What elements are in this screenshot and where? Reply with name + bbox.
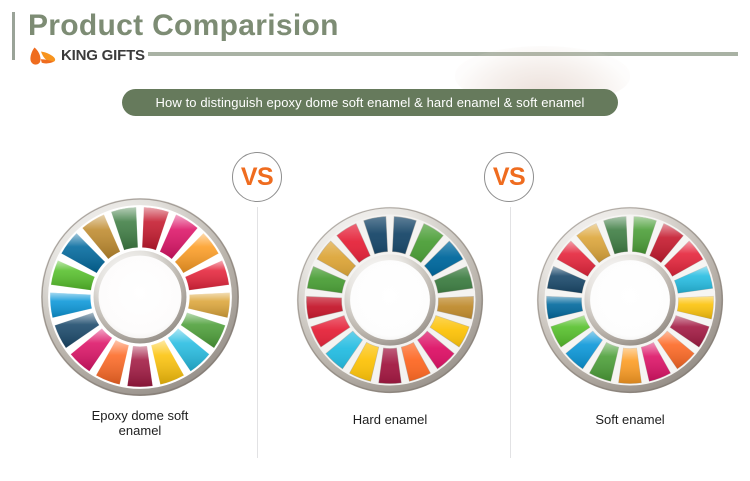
flame-leaf-logo-icon	[28, 45, 58, 66]
column-divider	[510, 207, 511, 458]
product-label-line1: Epoxy dome soft	[22, 408, 258, 423]
accent-bar-icon	[12, 12, 15, 60]
header-rule	[148, 52, 738, 56]
vs-badge-icon: VS	[484, 152, 534, 202]
product-label-hard-enamel: Hard enamel	[272, 412, 508, 427]
vs-label: VS	[493, 165, 525, 190]
vs-badge-icon: VS	[232, 152, 282, 202]
sdg-wheel-pin-epoxy-dome-icon	[39, 196, 241, 398]
product-label-line1: Hard enamel	[272, 412, 508, 427]
page-header: Product Comparision KING GIFTS	[0, 0, 750, 72]
pin-image-wrap	[535, 205, 725, 395]
brand-name: KING GIFTS	[61, 47, 145, 64]
product-comparison-page: Product Comparision KING GIFTS WATERMARK…	[0, 0, 750, 481]
product-column-hard-enamel[interactable]: Hard enamel	[272, 196, 508, 456]
brand-logo: KING GIFTS	[28, 44, 145, 66]
product-column-soft-enamel[interactable]: Soft enamel	[512, 196, 748, 456]
page-title: Product Comparision	[28, 8, 339, 44]
product-label-epoxy-dome-soft-enamel: Epoxy dome soft enamel	[22, 408, 258, 438]
sdg-wheel-pin-soft-enamel-icon	[535, 205, 725, 395]
banner-pill: How to distinguish epoxy dome soft ename…	[122, 89, 618, 116]
sdg-wheel-pin-hard-enamel-icon	[295, 205, 485, 395]
product-label-line1: Soft enamel	[512, 412, 748, 427]
product-label-line2: enamel	[22, 423, 258, 438]
pin-image-wrap	[295, 205, 485, 395]
banner-text: How to distinguish epoxy dome soft ename…	[156, 95, 585, 110]
vs-label: VS	[241, 165, 273, 190]
product-column-epoxy-dome-soft-enamel[interactable]: Epoxy dome soft enamel	[22, 196, 258, 456]
pin-image-wrap	[39, 196, 241, 398]
product-label-soft-enamel: Soft enamel	[512, 412, 748, 427]
